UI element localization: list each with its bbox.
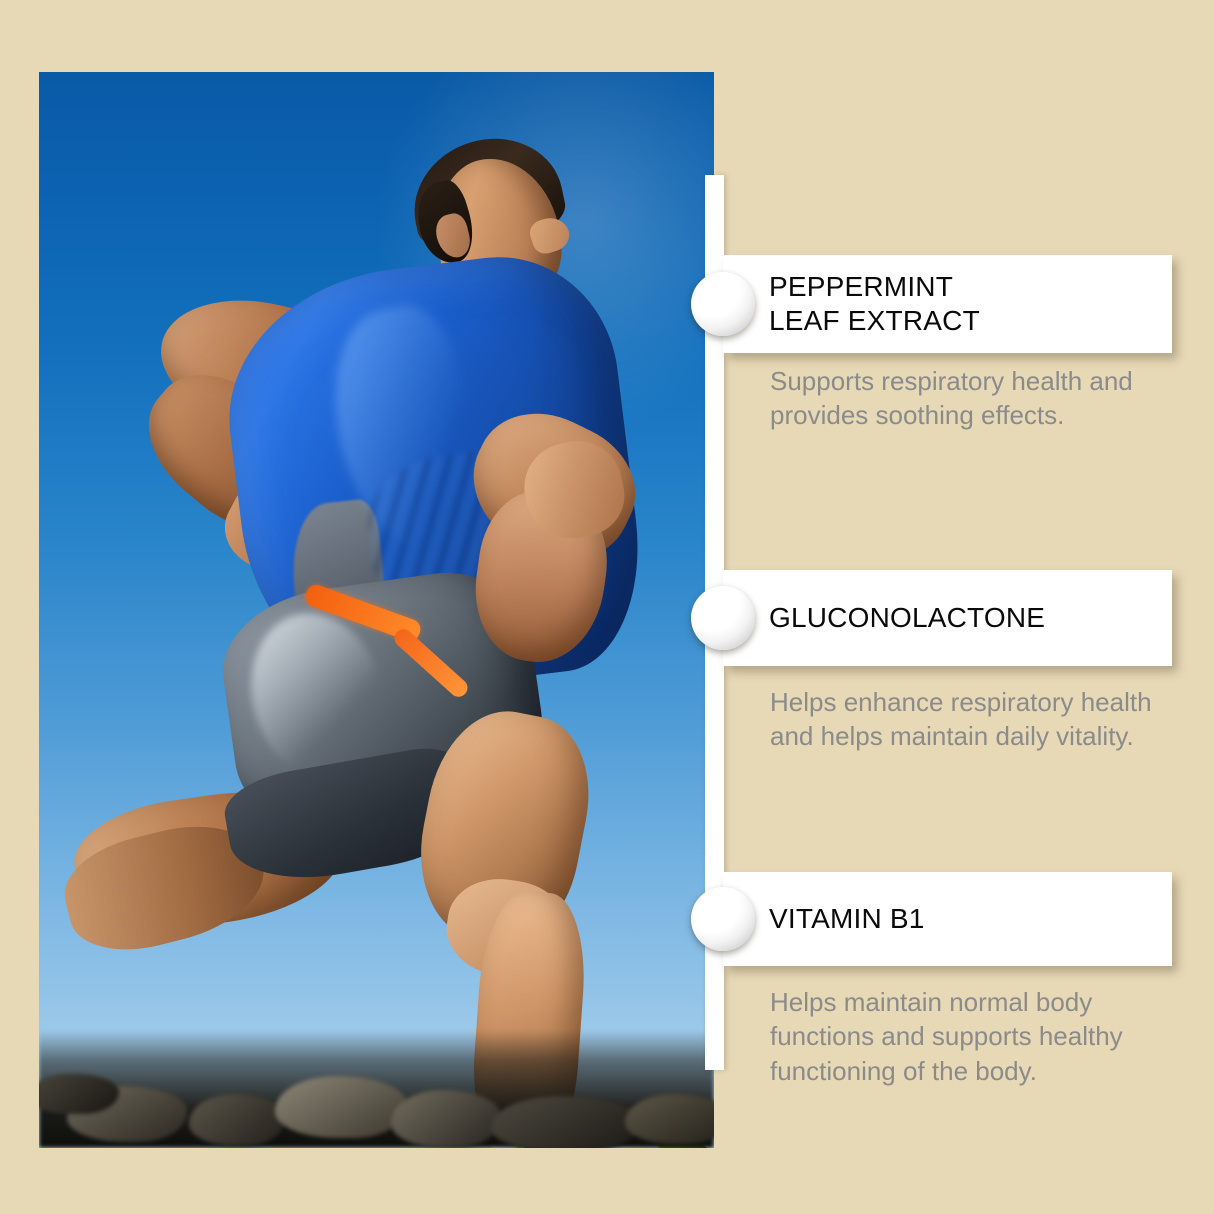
rock-7 [39,1074,119,1114]
ingredient-description: Supports respiratory health and provides… [770,364,1182,433]
rock-5 [491,1096,641,1148]
card-header-peppermint-leaf-extract[interactable]: PEPPERMINT LEAF EXTRACT [723,255,1172,353]
sphere-bullet-icon [691,272,755,336]
card-header-vitamin-b1[interactable]: VITAMIN B1 [723,872,1172,966]
ingredient-description: Helps enhance respiratory health and hel… [770,685,1182,754]
rock-2 [189,1094,285,1146]
ingredient-title: PEPPERMINT LEAF EXTRACT [769,270,980,338]
ingredient-description: Helps maintain normal body functions and… [770,985,1182,1088]
ingredient-title: GLUCONOLACTONE [769,601,1045,635]
card-header-gluconolactone[interactable]: GLUCONOLACTONE [723,570,1172,666]
rock-3 [275,1076,407,1138]
runner-photo [39,72,714,1148]
infographic-canvas: PEPPERMINT LEAF EXTRACT Supports respira… [0,0,1214,1214]
sphere-bullet-icon [691,586,755,650]
rock-6 [625,1094,714,1144]
sphere-bullet-icon [691,887,755,951]
rock-4 [391,1090,501,1148]
ingredient-title: VITAMIN B1 [769,902,925,936]
